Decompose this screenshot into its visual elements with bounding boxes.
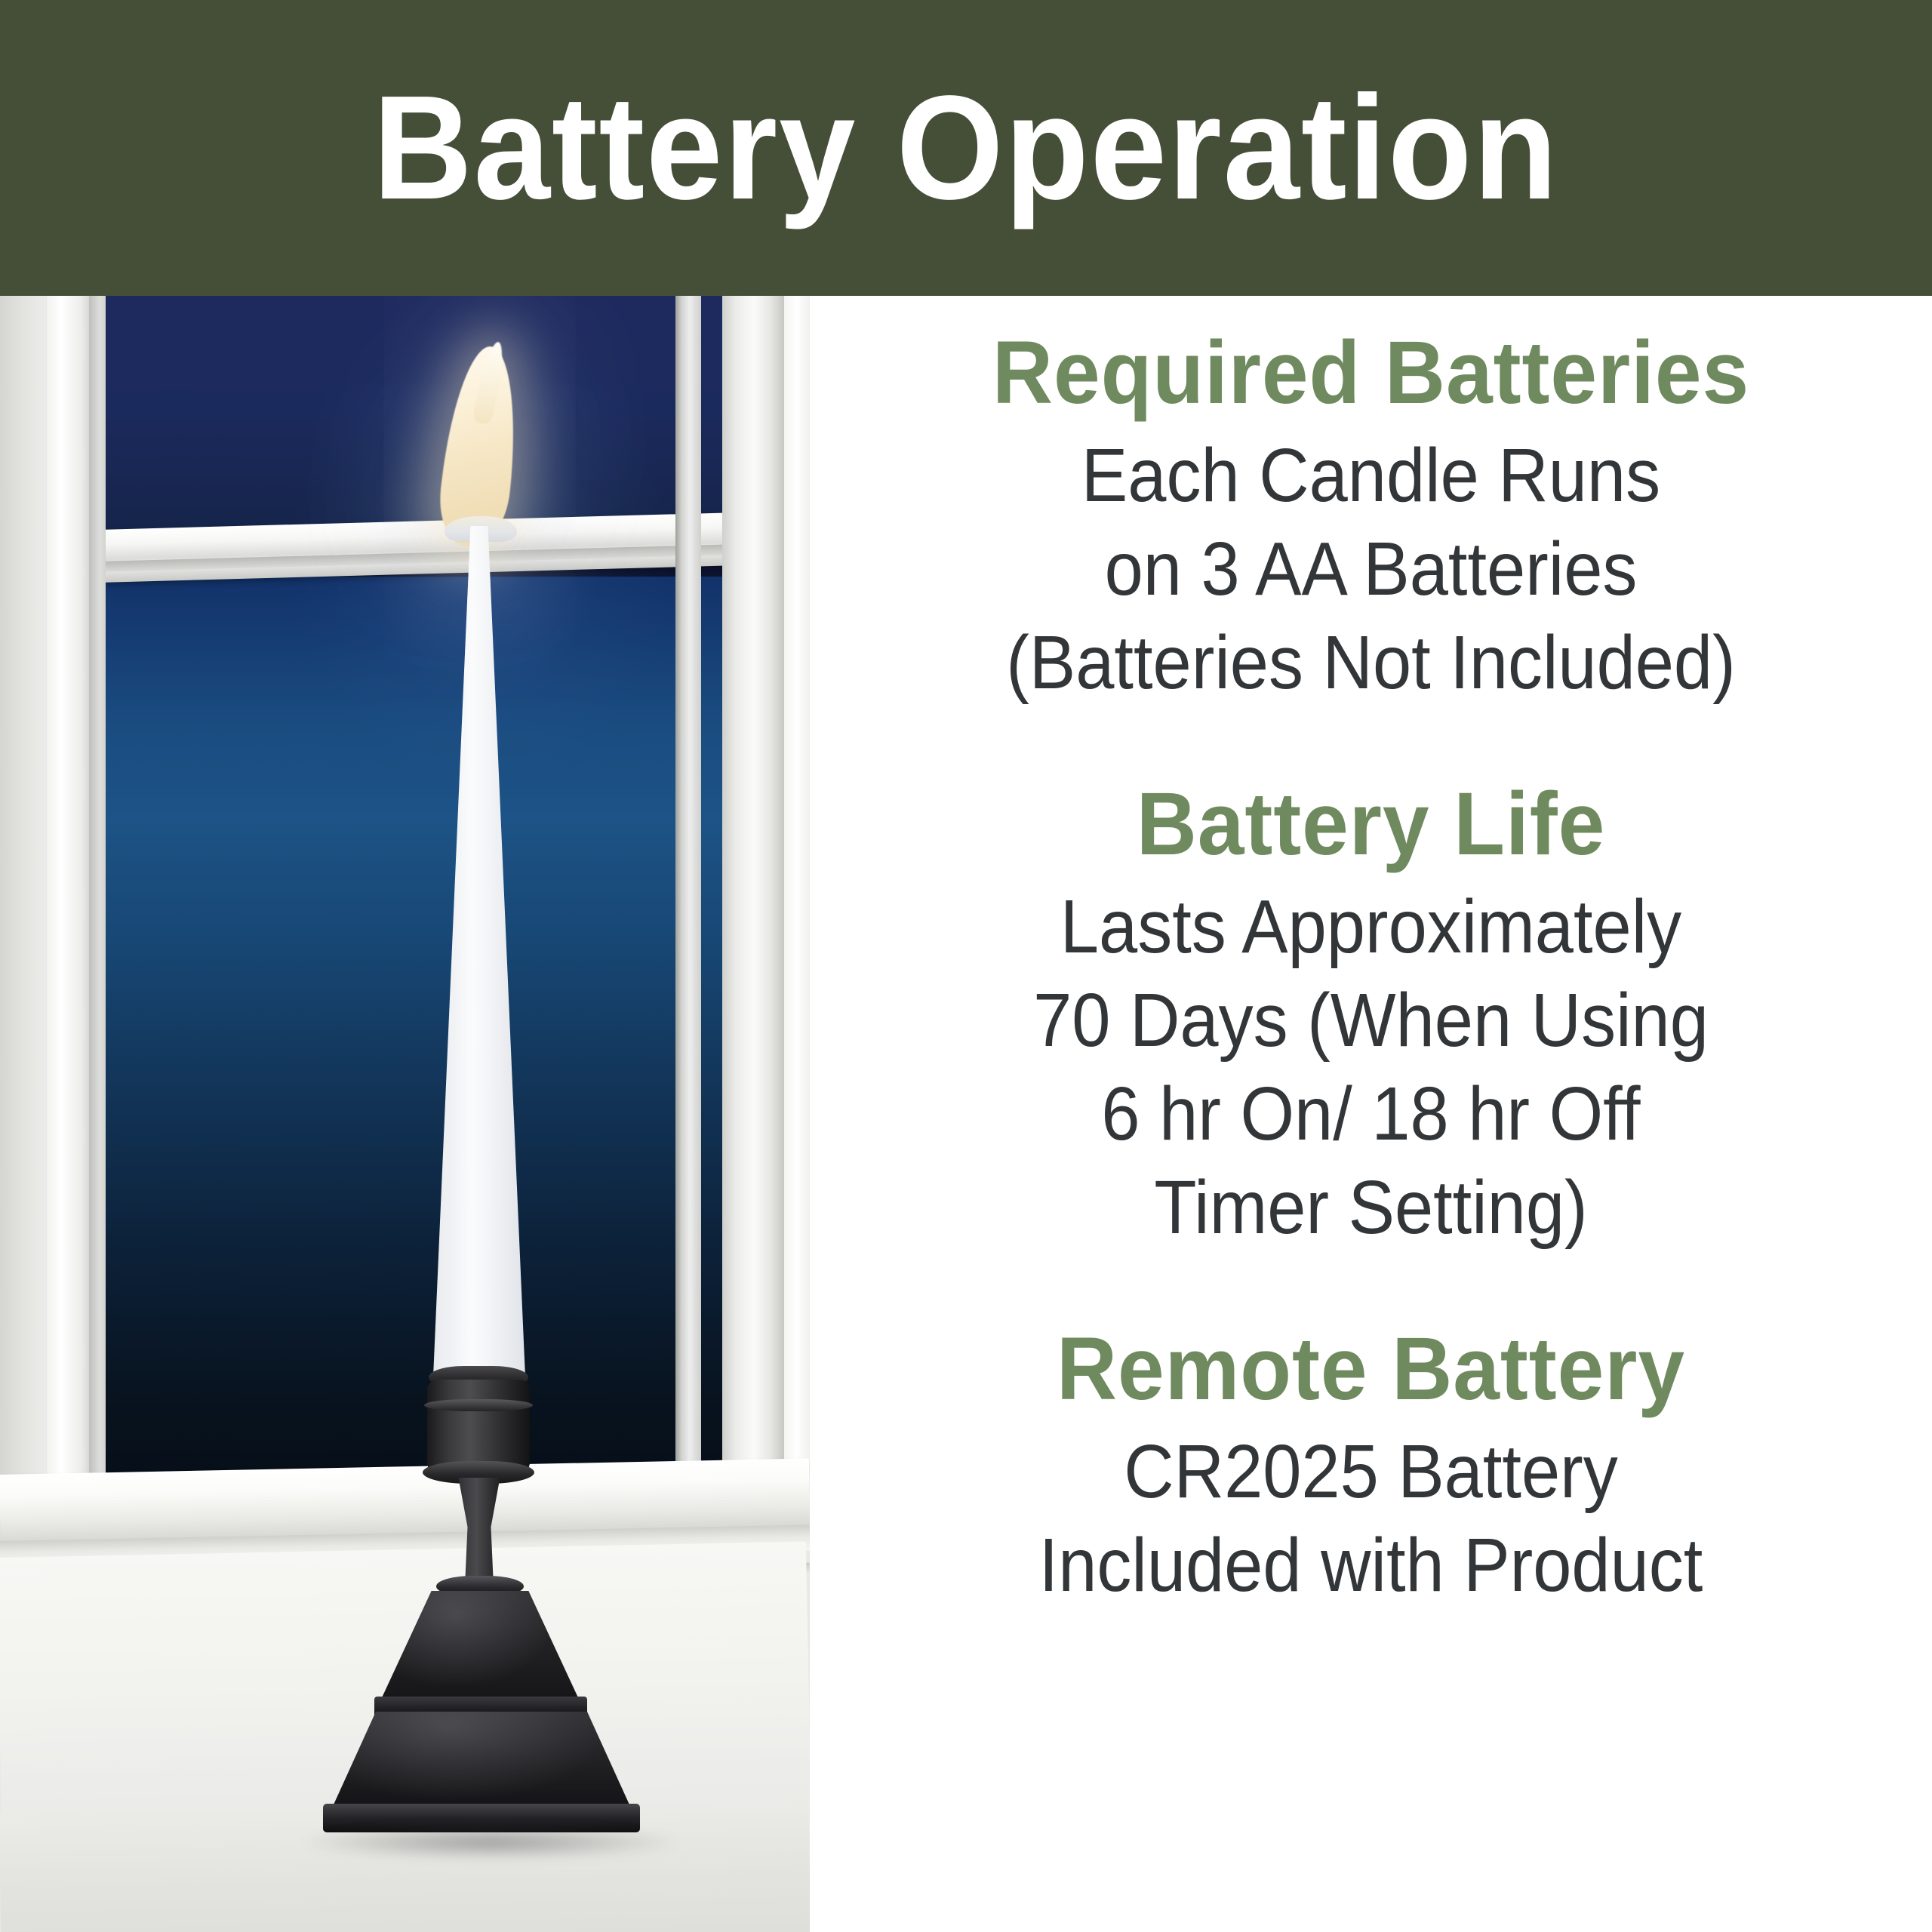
spec-line: Included with Product bbox=[854, 1518, 1887, 1612]
spec-line: 70 Days (When Using bbox=[854, 974, 1887, 1067]
window-casing-right bbox=[722, 296, 784, 1488]
window-casing-left bbox=[47, 296, 95, 1509]
window-pane-lower bbox=[106, 577, 722, 1509]
window-pane-upper bbox=[106, 296, 722, 539]
spec-line: CR2025 Battery bbox=[854, 1425, 1887, 1518]
window-glass-area bbox=[106, 296, 722, 1509]
window-sash-stile-right bbox=[675, 296, 701, 1509]
section-title-remote-battery: Remote Battery bbox=[844, 1319, 1899, 1419]
spec-line: 6 hr On/ 18 hr Off bbox=[854, 1067, 1887, 1161]
spec-line: (Batteries Not Included) bbox=[854, 616, 1887, 709]
spec-line: on 3 AA Batteries bbox=[854, 522, 1887, 616]
window-jamb-left bbox=[89, 296, 107, 1507]
spec-section-remote-battery: Remote Battery CR2025 Battery Included w… bbox=[810, 1319, 1932, 1612]
spec-section-required-batteries: Required Batteries Each Candle Runs on 3… bbox=[810, 323, 1932, 709]
section-title-required-batteries: Required Batteries bbox=[844, 323, 1899, 423]
infographic-root: Battery Operation bbox=[0, 0, 1932, 1932]
window-casing-right-edge bbox=[784, 296, 810, 1496]
window-apron-lower bbox=[0, 1796, 810, 1932]
header-band: Battery Operation bbox=[0, 0, 1932, 296]
spec-list: Required Batteries Each Candle Runs on 3… bbox=[810, 296, 1932, 1932]
product-photo bbox=[0, 296, 810, 1932]
section-body-battery-life: Lasts Approximately 70 Days (When Using … bbox=[854, 880, 1887, 1254]
section-title-battery-life: Battery Life bbox=[844, 774, 1899, 874]
spec-line: Each Candle Runs bbox=[854, 429, 1887, 522]
section-body-remote-battery: CR2025 Battery Included with Product bbox=[854, 1425, 1887, 1612]
page-title: Battery Operation bbox=[373, 74, 1558, 222]
section-body-required-batteries: Each Candle Runs on 3 AA Batteries (Batt… bbox=[854, 429, 1887, 709]
spec-line: Lasts Approximately bbox=[854, 880, 1887, 974]
spec-section-battery-life: Battery Life Lasts Approximately 70 Days… bbox=[810, 774, 1932, 1254]
spec-line: Timer Setting) bbox=[854, 1161, 1887, 1254]
